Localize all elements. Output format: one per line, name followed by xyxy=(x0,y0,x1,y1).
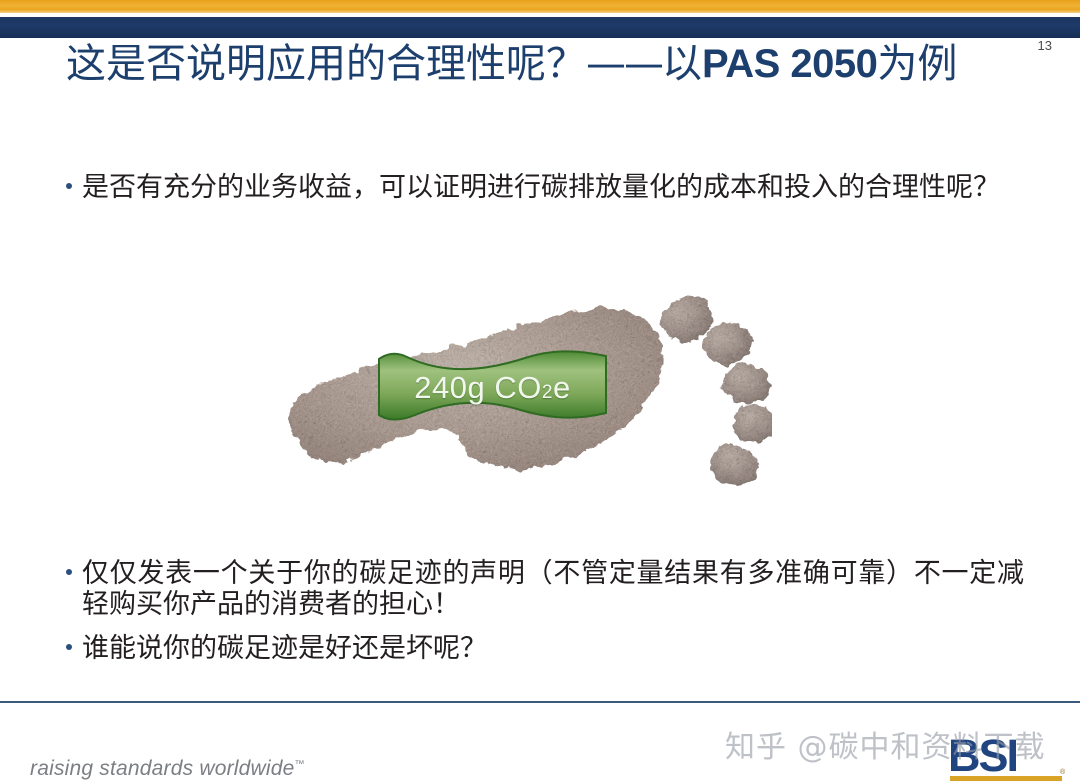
carbon-value-number: 240g xyxy=(414,370,485,406)
carbon-value-label: 240g CO2e xyxy=(375,345,610,427)
slide-title-dash: —— xyxy=(586,41,662,87)
bullet-dot-icon xyxy=(66,569,72,575)
bullet-list-top: 是否有充分的业务收益，可以证明进行碳排放量化的成本和投入的合理性呢？ xyxy=(66,172,1024,203)
slide-title-part-3: 为例 xyxy=(877,41,957,87)
bullet-item: 是否有充分的业务收益，可以证明进行碳排放量化的成本和投入的合理性呢？ xyxy=(66,172,1024,203)
carbon-value-banner: 240g CO2e xyxy=(375,345,610,427)
watermark: 知乎 @碳中和资料下载 xyxy=(725,722,1046,766)
footer-tagline-text: raising standards worldwide xyxy=(30,757,295,780)
bsi-logo-bar xyxy=(950,776,1062,781)
slide-title-part-2: 以 xyxy=(662,41,702,87)
slide-title-part-1: 这是否说明应用的合理性呢？ xyxy=(66,41,586,87)
bullet-text: 仅仅发表一个关于你的碳足迹的声明（不管定量结果有多准确可靠）不一定减轻购买你产品… xyxy=(82,558,1024,620)
bullet-text: 是否有充分的业务收益，可以证明进行碳排放量化的成本和投入的合理性呢？ xyxy=(82,172,1000,203)
slide-canvas: 13 这是否说明应用的合理性呢？——以PAS 2050为例 是否有充分的业务收益… xyxy=(0,0,1080,783)
slide-title-standard-name: PAS 2050 xyxy=(702,42,877,86)
footer-tagline: raising standards worldwide™ xyxy=(30,757,305,781)
carbon-unit-suffix: e xyxy=(553,370,571,406)
registered-trademark-icon: ® xyxy=(1060,769,1065,776)
bullet-text: 谁能说你的碳足迹是好还是坏呢？ xyxy=(82,633,487,664)
bullet-dot-icon xyxy=(66,644,72,650)
slide-title: 这是否说明应用的合理性呢？——以PAS 2050为例 xyxy=(66,36,996,93)
bullet-item: 仅仅发表一个关于你的碳足迹的声明（不管定量结果有多准确可靠）不一定减轻购买你产品… xyxy=(66,558,1024,621)
bullet-dot-icon xyxy=(66,183,72,189)
bullet-list-bottom: 仅仅发表一个关于你的碳足迹的声明（不管定量结果有多准确可靠）不一定减轻购买你产品… xyxy=(66,558,1024,664)
header-navy-bar xyxy=(0,17,1080,38)
bullet-item: 谁能说你的碳足迹是好还是坏呢？ xyxy=(66,633,1024,664)
footer-divider xyxy=(0,701,1080,703)
page-number: 13 xyxy=(1038,38,1052,53)
carbon-unit-subscript: 2 xyxy=(542,382,553,404)
carbon-unit-prefix: CO xyxy=(494,370,542,406)
trademark-icon: ™ xyxy=(295,759,305,770)
header-gold-bar xyxy=(0,0,1080,13)
